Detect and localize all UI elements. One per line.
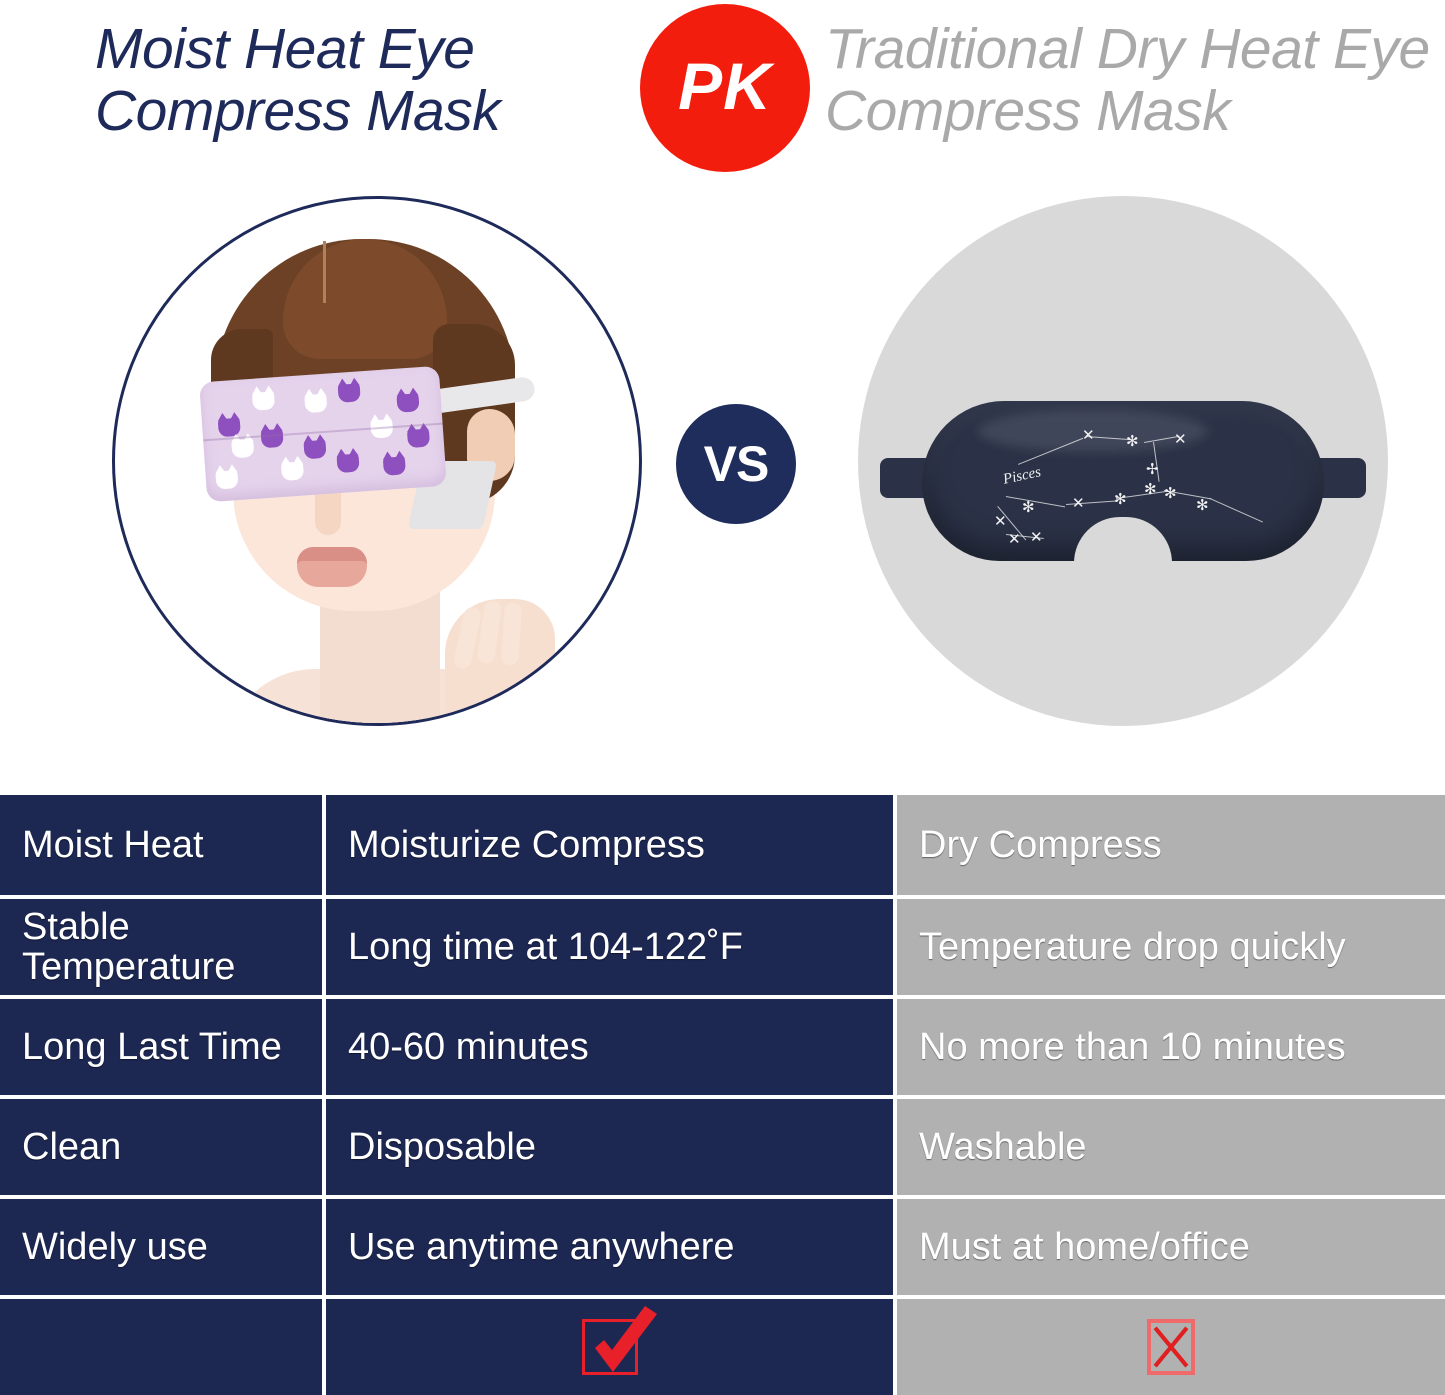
dry-value-cell: Dry Compress: [897, 795, 1445, 895]
red-cross-icon: [1147, 1319, 1195, 1375]
product-title-right: Traditional Dry Heat Eye Compress Mask: [825, 18, 1435, 142]
feature-cell: Clean: [0, 1099, 322, 1195]
moist-value-cell: Moisturize Compress: [326, 795, 893, 895]
comparison-table: Moist Heat Moisturize Compress Dry Compr…: [0, 795, 1445, 1375]
product-photo-left: [112, 196, 642, 726]
dry-value-cell: Temperature drop quickly: [897, 899, 1445, 995]
verdict-dry-cell: [897, 1299, 1445, 1395]
dry-value-cell: Must at home/office: [897, 1199, 1445, 1295]
moist-value-cell: Disposable: [326, 1099, 893, 1195]
red-check-icon: [582, 1319, 638, 1375]
vs-badge-label: VS: [704, 439, 769, 489]
dry-value-cell: Washable: [897, 1099, 1445, 1195]
hero-comparison: VS Pisces ✕ ✻ ✕ ✢ ✻ ✻ ✕: [0, 182, 1445, 795]
table-row: Clean Disposable Washable: [0, 1099, 1445, 1195]
moist-value-cell: Long time at 104-122˚F: [326, 899, 893, 995]
dry-value-cell: No more than 10 minutes: [897, 999, 1445, 1095]
vs-badge: VS: [676, 404, 796, 524]
table-row: Stable Temperature Long time at 104-122˚…: [0, 899, 1445, 995]
feature-label: Stable Temperature: [22, 907, 300, 987]
table-row: Widely use Use anytime anywhere Must at …: [0, 1199, 1445, 1295]
verdict-moist-cell: [326, 1299, 893, 1395]
red-check-icon-glyph: [583, 1302, 667, 1386]
moist-value-cell: Use anytime anywhere: [326, 1199, 893, 1295]
product-photo-right: Pisces ✕ ✻ ✕ ✢ ✻ ✻ ✕ ✻ ✕ ✕ ✕ ✻ ✻: [858, 196, 1388, 726]
red-cross-icon-glyph: [1151, 1323, 1191, 1371]
woman-wearing-compress-mask-illustration: [115, 199, 642, 726]
moist-value-cell: 40-60 minutes: [326, 999, 893, 1095]
feature-cell: Stable Temperature: [0, 899, 322, 995]
eye-mask-lavender-cat-print: [199, 366, 447, 502]
header-banner: Moist Heat Eye Compress Mask PK Traditio…: [0, 0, 1445, 182]
feature-cell: Widely use: [0, 1199, 322, 1295]
silk-sleep-mask-illustration: Pisces ✕ ✻ ✕ ✢ ✻ ✻ ✕ ✻ ✕ ✕ ✕ ✻ ✻: [858, 196, 1388, 726]
feature-cell: Long Last Time: [0, 999, 322, 1095]
feature-cell: Moist Heat: [0, 795, 322, 895]
table-verdict-row: [0, 1299, 1445, 1395]
product-title-left: Moist Heat Eye Compress Mask: [95, 18, 655, 142]
table-row: Long Last Time 40-60 minutes No more tha…: [0, 999, 1445, 1095]
verdict-feature-cell: [0, 1299, 322, 1395]
pk-badge: PK: [640, 4, 810, 172]
table-row: Moist Heat Moisturize Compress Dry Compr…: [0, 795, 1445, 895]
pk-badge-label: PK: [678, 53, 772, 119]
